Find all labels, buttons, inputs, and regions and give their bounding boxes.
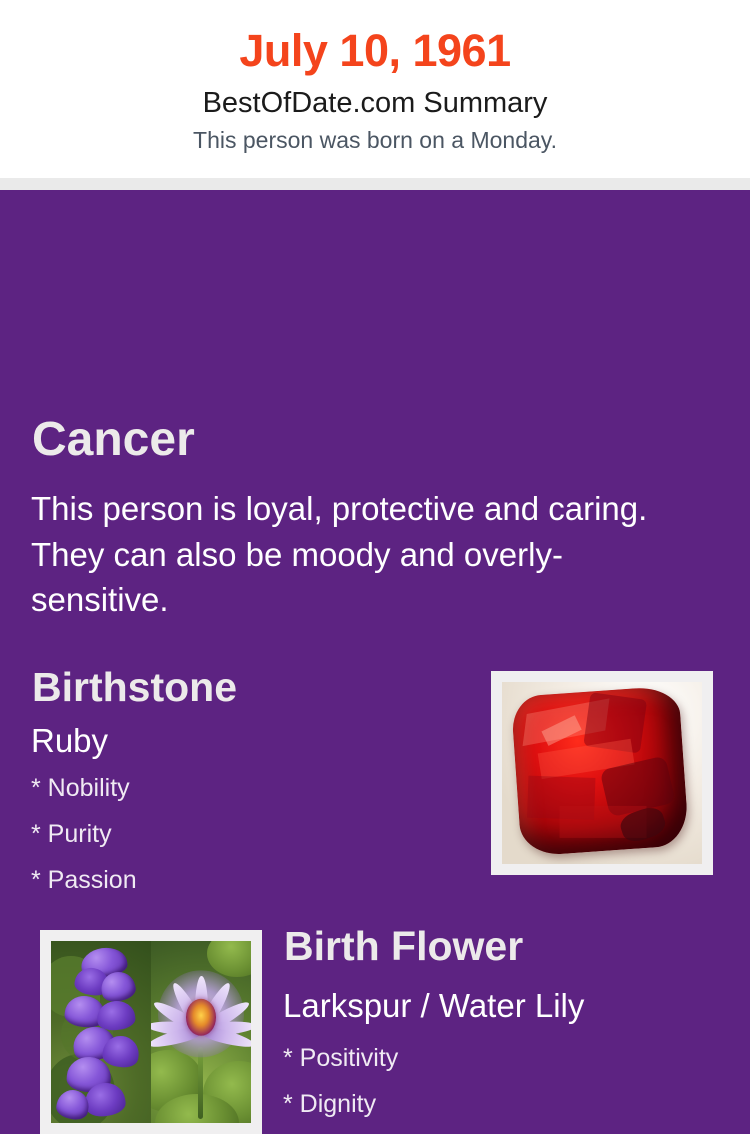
birthflower-title: Birth Flower	[284, 926, 523, 967]
larkspur-photo-half	[51, 941, 151, 1123]
list-item: * Nobility	[31, 776, 451, 801]
lily-stem	[198, 1047, 203, 1120]
list-item: * Positivity	[283, 1046, 683, 1071]
zodiac-sign-title: Cancer	[32, 412, 532, 469]
birthstone-name: Ruby	[31, 724, 108, 757]
card-header: July 10, 1961 BestOfDate.com Summary Thi…	[0, 0, 750, 178]
summary-card: July 10, 1961 BestOfDate.com Summary Thi…	[0, 0, 750, 1000]
list-item: * Dignity	[283, 1092, 683, 1117]
birthflower-image-frame	[40, 930, 262, 1134]
list-item: * Passion	[31, 868, 451, 893]
birthstone-trait-list: * Nobility * Purity * Passion	[31, 776, 451, 914]
larkspur-waterlily-photo	[51, 941, 251, 1123]
ruby-gemstone-photo	[502, 682, 702, 864]
list-item: * Purity	[31, 822, 451, 847]
waterlily-photo-half	[151, 941, 251, 1123]
site-subtitle: BestOfDate.com Summary	[0, 89, 750, 118]
birthstone-image-frame	[491, 671, 713, 875]
birth-day-note: This person was born on a Monday.	[0, 129, 750, 152]
details-panel: Cancer This person is loyal, protective …	[0, 190, 750, 1000]
birthflower-name: Larkspur / Water Lily	[283, 989, 584, 1022]
birthstone-title: Birthstone	[32, 667, 237, 708]
ruby-crystal-shape	[511, 685, 690, 856]
header-divider	[0, 178, 750, 190]
zodiac-description: This person is loyal, protective and car…	[31, 486, 651, 623]
photo-split	[51, 941, 251, 1123]
page-title: July 10, 1961	[0, 28, 750, 73]
birthflower-trait-list: * Positivity * Dignity	[283, 1046, 683, 1117]
